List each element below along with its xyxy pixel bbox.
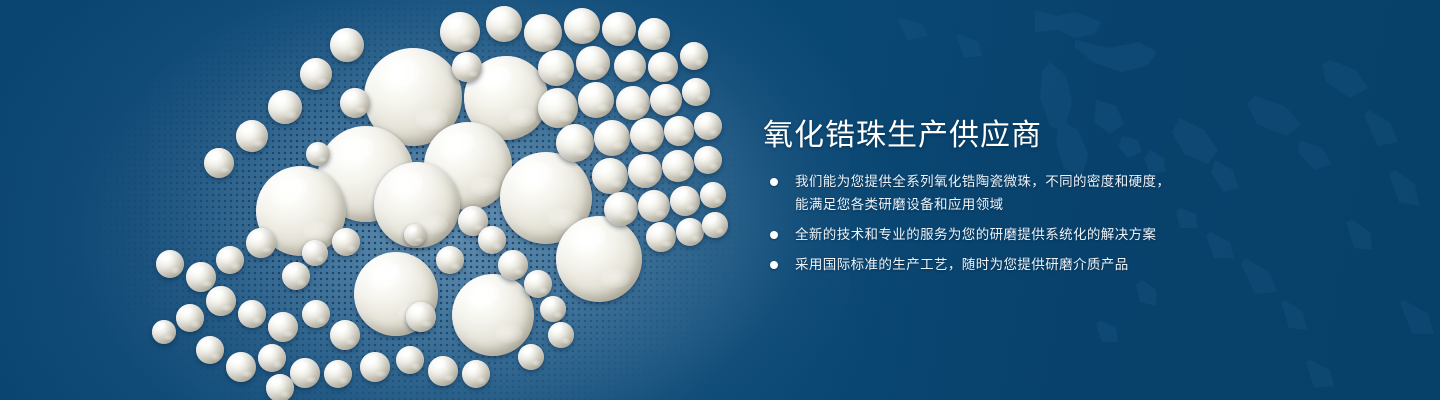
page-title: 氧化锆珠生产供应商	[763, 110, 1042, 154]
list-item-line1: 我们能为您提供全系列氧化锆陶瓷微珠，不同的密度和硬度，	[795, 174, 1170, 189]
bullet-dot-icon	[770, 178, 778, 186]
list-item-line1: 全新的技术和专业的服务为您的研磨提供系统化的解决方案	[795, 227, 1156, 242]
feature-list: 我们能为您提供全系列氧化锆陶瓷微珠，不同的密度和硬度， 能满足您各类研磨设备和应…	[768, 170, 1170, 283]
list-item: 我们能为您提供全系列氧化锆陶瓷微珠，不同的密度和硬度， 能满足您各类研磨设备和应…	[768, 170, 1170, 216]
list-item: 采用国际标准的生产工艺，随时为您提供研磨介质产品	[768, 253, 1170, 276]
bullet-dot-icon	[770, 261, 778, 269]
list-item-line2: 能满足您各类研磨设备和应用领域	[795, 193, 1170, 216]
banner-content: 氧化锆珠生产供应商 我们能为您提供全系列氧化锆陶瓷微珠，不同的密度和硬度， 能满…	[763, 0, 1283, 400]
list-item: 全新的技术和专业的服务为您的研磨提供系统化的解决方案	[768, 223, 1170, 246]
list-item-line1: 采用国际标准的生产工艺，随时为您提供研磨介质产品	[795, 257, 1129, 272]
bullet-dot-icon	[770, 231, 778, 239]
hero-banner: 氧化锆珠生产供应商 我们能为您提供全系列氧化锆陶瓷微珠，不同的密度和硬度， 能满…	[0, 0, 1440, 400]
